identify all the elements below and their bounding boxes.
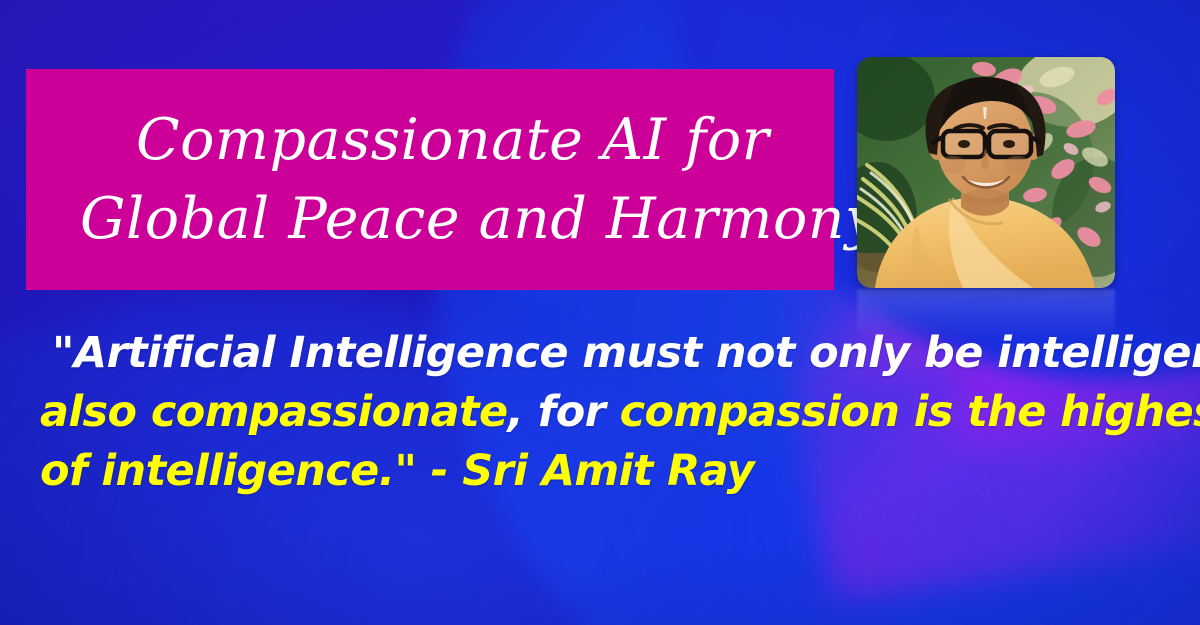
poster-canvas: Compassionate AI for Global Peace and Ha…	[0, 0, 1200, 625]
quote-line-2: also compassionate, for compassion is th…	[38, 383, 1188, 442]
portrait-photo	[857, 57, 1115, 288]
quote-attribution: of intelligence." - Sri Amit Ray	[40, 446, 754, 496]
title-banner: Compassionate AI for Global Peace and Ha…	[26, 69, 834, 290]
quote-line-1: "Artificial Intelligence must not only b…	[38, 324, 1188, 383]
quote-segment: "Artificial Intelligence must not only b…	[52, 328, 1200, 378]
quote-segment-highlight: compassion is the highest form	[620, 387, 1200, 437]
portrait-container	[857, 57, 1115, 288]
quote-block: "Artificial Intelligence must not only b…	[38, 324, 1188, 501]
title-line-2: Global Peace and Harmony	[26, 180, 834, 259]
quote-line-3: of intelligence." - Sri Amit Ray	[38, 442, 1188, 501]
quote-segment: , for	[508, 387, 620, 437]
quote-segment-highlight: also compassionate	[40, 387, 508, 437]
portrait-illustration	[857, 57, 1115, 288]
title-line-1: Compassionate AI for	[26, 101, 834, 180]
